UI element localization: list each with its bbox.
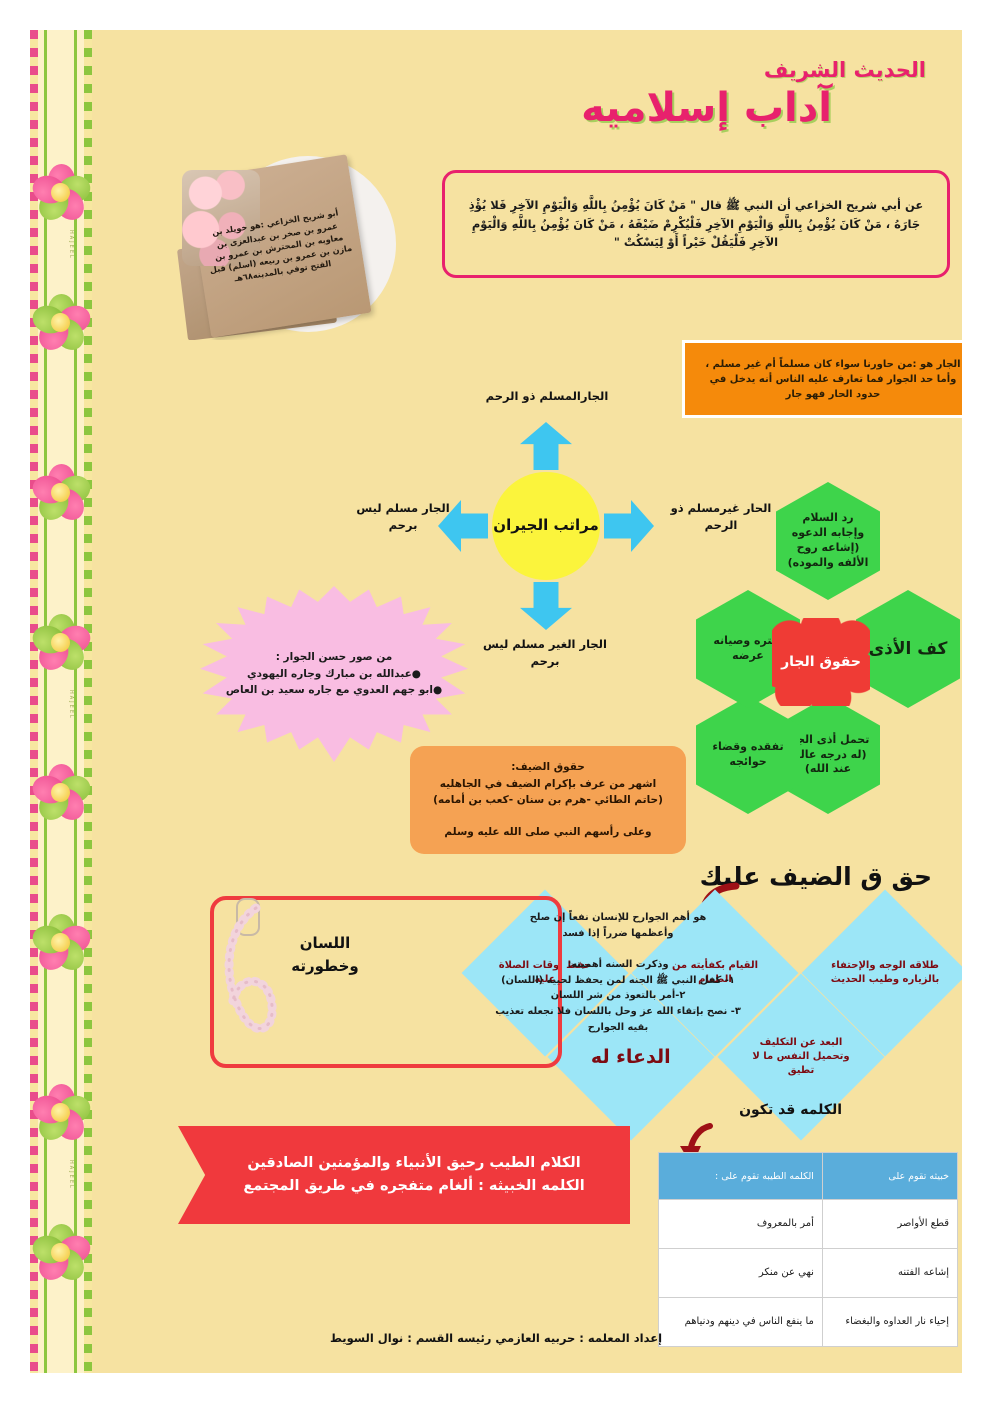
good-neighbourhood-starburst: من صور حسن الجوار : ●عبدالله بن مبارك وج…	[200, 586, 468, 762]
tongue-title: اللسان وخطورته	[288, 932, 362, 977]
neighbor-rights-center: حقوق الجار	[772, 618, 870, 706]
guest-duty-diamond-5-label: طلاقه الوجه والإحتفاء بالزياره وطيب الحد…	[827, 959, 943, 987]
biography-photo-card: أبو شريح الخزاعي :هو خويلد بن عمرو بن صخ…	[176, 148, 402, 340]
flower-icon	[30, 460, 94, 526]
guest-duty-diamond-4-label: البعد عن التكليف وتحميل النفس ما لا تطيق	[743, 1036, 859, 1078]
poster-canvas: HAJEEL HAJEEL	[30, 30, 962, 1373]
strip-watermark: HAJEEL	[48, 230, 74, 260]
neighbor-right-hex-1-label: رد السلام وإجابه الدعوه (إشاعه روح الألف…	[776, 511, 880, 570]
flower-icon	[30, 1080, 94, 1146]
tongue-line3: وذكرت السنه أهميته:	[567, 959, 668, 970]
flower-icon	[30, 610, 94, 676]
neighbor-definition-box: الجار هو :من حاورنا سواء كان مسلماً أم غ…	[682, 340, 962, 418]
biography-note: أبو شريح الخزاعي :هو خويلد بن عمرو بن صخ…	[189, 157, 370, 338]
table-row: إشاعه الفتنه نهي عن منكر	[659, 1249, 958, 1298]
good-neighbourhood-text: من صور حسن الجوار : ●عبدالله بن مبارك وج…	[226, 649, 442, 699]
table-cell-good: نهي عن منكر	[659, 1249, 823, 1298]
neighbor-right-hex-4-label: تفقده وقضاء حوائجه	[696, 740, 800, 770]
pearl-necklace-icon	[216, 902, 282, 1052]
arrow-right-icon	[604, 500, 654, 552]
speech-banner-text: الكلام الطيب رحيق الأنبياء والمؤمنين الص…	[243, 1152, 584, 1198]
neighbor-ranks-center-label: مراتب الجيران	[493, 516, 598, 536]
neighbor-rank-top: الجارالمسلم ذو الرحم	[482, 388, 612, 405]
guest-rights-text: حقوق الضيف: اشهر من عرف بإكرام الضيف في …	[433, 759, 663, 840]
biography-note-text: أبو شريح الخزاعي :هو خويلد بن عمرو بن صخ…	[196, 204, 362, 289]
page-title: آداب إسلاميه	[581, 85, 832, 131]
decorative-floral-strip: HAJEEL HAJEEL	[30, 30, 92, 1373]
strip-watermark: HAJEEL	[48, 1160, 74, 1190]
neighbor-right-hex-2-label: كف الأذى	[861, 638, 956, 661]
table-row: قطع الأواصر أمر بالمعروف	[659, 1200, 958, 1249]
arrow-down-icon	[520, 582, 572, 630]
word-comparison-table: خبيثه تقوم على الكلمه الطيبه تقوم على : …	[658, 1152, 958, 1347]
guest-rights-line4: وعلى رأسهم النبي صلى الله عليه وسلم	[444, 826, 651, 838]
good-neighbourhood-line3: ●ابو جهم العدوي مع جاره سعيد بن العاص	[226, 684, 442, 696]
table-header-good: الكلمه الطيبه تقوم على :	[659, 1153, 823, 1200]
guest-duty-diamond-2-label: الدعاء له	[573, 1044, 689, 1071]
hadith-box: عن أبي شريح الخزاعي أن النبي ﷺ قال " مَن…	[442, 170, 950, 278]
speech-banner: الكلام الطيب رحيق الأنبياء والمؤمنين الص…	[178, 1126, 630, 1224]
tongue-line6: ٣- نصح بإتقاء الله عز وحل باللسان فلا نج…	[495, 1006, 741, 1033]
tongue-line5: ٢-أمر بالتعوذ من شر اللسان	[551, 990, 686, 1001]
speech-banner-line2: الكلمه الخبيثه : ألغام متفجره في طريق ال…	[243, 1178, 584, 1194]
neighbor-rank-bottom: الجار الغير مسلم ليس برحم	[470, 636, 620, 669]
neighbor-right-hex-2: كف الأذى	[856, 590, 960, 708]
good-neighbourhood-line2: ●عبدالله بن مبارك وجاره اليهودي	[247, 668, 421, 680]
neighbor-right-hex-1: رد السلام وإجابه الدعوه (إشاعه روح الألف…	[776, 482, 880, 600]
neighbor-rank-left: الجار مسلم ليس برحم	[348, 500, 458, 533]
flower-icon	[30, 160, 94, 226]
strip-line-left	[44, 30, 47, 1373]
guest-rights-line3: (حاتم الطائي -هرم بن سنان -كعب بن أمامه)	[433, 794, 663, 806]
neighbor-right-hex-4: تفقده وقضاء حوائجه	[696, 696, 800, 814]
table-cell-good: أمر بالمعروف	[659, 1200, 823, 1249]
table-cell-bad: إشاعه الفتنه	[822, 1249, 957, 1298]
good-neighbourhood-line1: من صور حسن الجوار :	[276, 651, 393, 663]
guest-rights-box: حقوق الضيف: اشهر من عرف بإكرام الضيف في …	[410, 746, 686, 854]
arrow-up-icon	[520, 422, 572, 470]
strip-watermark: HAJEEL	[48, 690, 74, 720]
tongue-line1: هو أهم الجوارح للإنسان نفعاً إن صلح	[530, 912, 707, 923]
neighbor-ranks-center: مراتب الجيران	[492, 472, 600, 580]
guest-rights-line2: اشهر من عرف بإكرام الضيف في الجاهليه	[440, 778, 656, 790]
footer-credit: إعداد المعلمه : حربيه العازمي رئيسه القس…	[30, 1331, 962, 1345]
table-header-row: خبيثه تقوم على الكلمه الطيبه تقوم على :	[659, 1153, 958, 1200]
word-section-title: الكلمه قد تكون	[739, 1102, 842, 1118]
flower-icon	[30, 1220, 94, 1286]
neighbor-rights-center-label: حقوق الجار	[781, 653, 861, 671]
strip-line-right	[74, 30, 77, 1373]
table-cell-bad: قطع الأواصر	[822, 1200, 957, 1249]
flower-icon	[30, 760, 94, 826]
flower-icon	[30, 290, 94, 356]
guest-rights-line1: حقوق الضيف:	[511, 761, 585, 773]
neighbor-definition-text: الجار هو :من حاورنا سواء كان مسلماً أم غ…	[697, 357, 962, 402]
speech-banner-line1: الكلام الطيب رحيق الأنبياء والمؤمنين الص…	[247, 1155, 580, 1171]
tongue-body-text: هو أهم الجوارح للإنسان نفعاً إن صلح وأعظ…	[484, 910, 752, 1035]
table-header-bad: خبيثه تقوم على	[822, 1153, 957, 1200]
hadith-text: عن أبي شريح الخزاعي أن النبي ﷺ قال " مَن…	[459, 196, 933, 253]
poster-kicker: الحديث الشريف	[764, 58, 926, 82]
tongue-line4: ١- كفل النبي ﷺ الجنه لمن يحفظ لحييه (الل…	[501, 975, 735, 986]
neighbor-rank-right: الحار غيرمسلم ذو الرحم	[660, 500, 782, 533]
tongue-line2: وأعظمها ضرراً إذا فسد	[563, 928, 674, 939]
flower-icon	[30, 910, 94, 976]
